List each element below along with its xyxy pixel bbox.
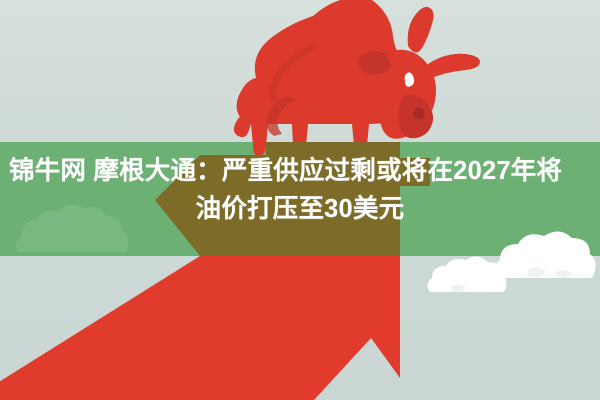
news-thumbnail-image: 锦牛网 摩根大通：严重供应过剩或将在2027年将 油价打压至30美元: [0, 0, 600, 400]
illustration-canvas: [0, 0, 600, 400]
